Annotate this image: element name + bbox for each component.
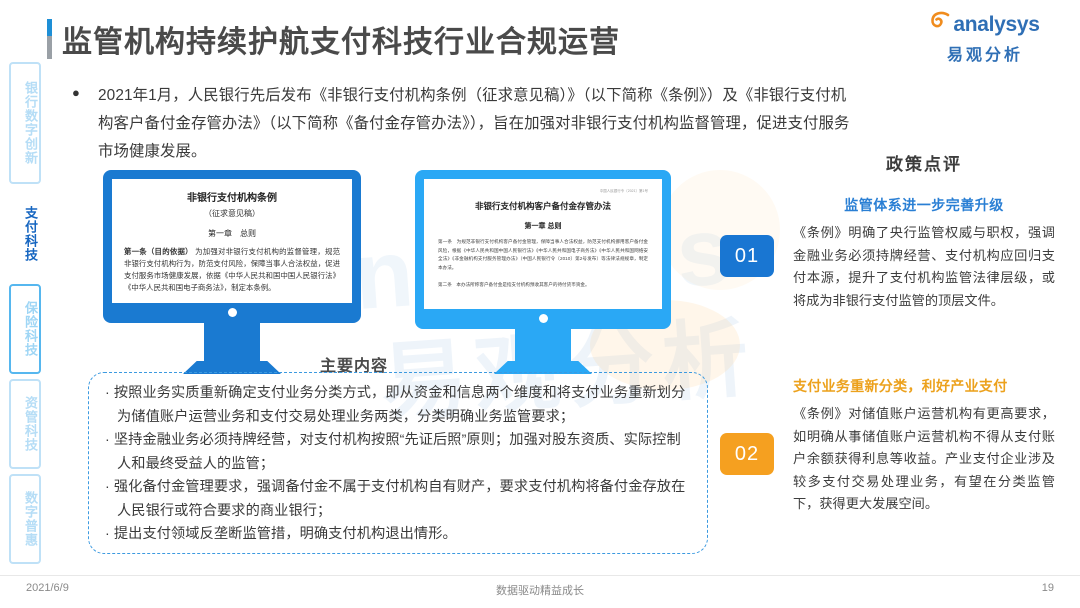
monitor-left-screen: 非银行支付机构条例 （征求意见稿） 第一章 总则 第一条（目的依据） 为加强对非…	[112, 179, 352, 303]
monitor-right-power-dot	[539, 314, 548, 323]
content-bullet-2: · 坚持金融业务必须持牌经营，对支付机构按照“先证后照”原则；加强对股东资质、实…	[105, 429, 693, 476]
doc-chapter: 第一章 总则	[438, 221, 648, 231]
monitor-right: 中国人民银行令〔2021〕第1号 非银行支付机构客户备付金存管办法 第一章 总则…	[415, 170, 671, 374]
monitor-left: 非银行支付机构条例 （征求意见稿） 第一章 总则 第一条（目的依据） 为加强对非…	[103, 170, 361, 374]
analysys-swoosh-icon	[930, 10, 952, 39]
content-bullet-1: · 按照业务实质重新确定支付业务分类方式，即从资金和信息两个维度和将支付业务重新…	[105, 382, 693, 429]
commentary-heading-1: 监管体系进一步完善升级	[793, 195, 1055, 215]
badge-01: 01	[720, 235, 774, 277]
monitor-right-frame: 中国人民银行令〔2021〕第1号 非银行支付机构客户备付金存管办法 第一章 总则…	[415, 170, 671, 329]
title-accent-bar	[47, 19, 52, 59]
document-preview-custody: 中国人民银行令〔2021〕第1号 非银行支付机构客户备付金存管办法 第一章 总则…	[424, 179, 662, 296]
content-bullet-3: · 强化备付金管理要求，强调备付金不属于支付机构自有财产，要求支付机构将备付金存…	[105, 476, 693, 523]
sidebar-item-label: 资管科技	[23, 396, 38, 452]
sidebar-item-label: 保险科技	[23, 301, 38, 357]
intro-line-1: 2021年1月，人民银行先后发布《非银行支付机构条例（征求意见稿）》（以下简称《…	[98, 82, 1052, 110]
sidebar-item-bank-digital[interactable]: 银行数字创新	[9, 62, 41, 184]
sidebar-item-label: 数字普惠	[23, 491, 38, 547]
sidebar-item-asset-tech[interactable]: 资管科技	[9, 379, 41, 469]
sidebar-item-label: 银行数字创新	[23, 81, 38, 165]
logo-wordmark-cn: 易观分析	[920, 41, 1050, 65]
sidebar-item-label: 支付科技	[23, 206, 38, 262]
doc-body: 第一条 为规范非银行支付机构客户备付金管理，保障当事人合法权益，防范支付机构挪用…	[438, 238, 648, 272]
doc-body-lead: 第一条（目的依据）	[124, 247, 193, 256]
doc-title: 非银行支付机构客户备付金存管办法	[438, 200, 648, 212]
monitor-left-neck	[204, 323, 260, 361]
commentary-heading-2: 支付业务重新分类，利好产业支付	[793, 376, 1055, 396]
document-preview-regulation: 非银行支付机构条例 （征求意见稿） 第一章 总则 第一条（目的依据） 为加强对非…	[112, 179, 352, 300]
footer-divider	[0, 575, 1080, 576]
footer-page-number: 19	[1042, 582, 1054, 594]
intro-line-2: 构客户备付金存管办法》（以下简称《备付金存管办法》），旨在加强对非银行支付机构监…	[98, 110, 1052, 138]
commentary-body-1: 《条例》明确了央行监管权威与职权，强调金融业务必须持牌经营、支付机构应回归支付本…	[793, 222, 1055, 312]
page-title: 监管机构持续护航支付科技行业合规运营	[62, 17, 620, 61]
doc-title: 非银行支付机构条例	[124, 189, 340, 204]
doc-subtitle: （征求意见稿）	[124, 208, 340, 219]
slide-canvas: analysys 易观分析 监管机构持续护航支付科技行业合规运营 analysy…	[0, 0, 1080, 608]
doc-chapter: 第一章 总则	[124, 228, 340, 239]
logo-wordmark: analysys	[953, 14, 1039, 35]
commentary-title: 政策点评	[793, 150, 1055, 175]
sidebar-item-insurance-tech[interactable]: 保险科技	[9, 284, 41, 374]
commentary-section: 政策点评 监管体系进一步完善升级 《条例》明确了央行监管权威与职权，强调金融业务…	[793, 150, 1055, 312]
sidebar-item-digital-inclusive[interactable]: 数字普惠	[9, 474, 41, 564]
sidebar-nav: 银行数字创新 支付科技 保险科技 资管科技 数字普惠	[7, 62, 43, 569]
doc-body: 第一条（目的依据） 为加强对非银行支付机构的监督管理，规范非银行支付机构行为，防…	[124, 246, 340, 294]
sidebar-item-payment-tech[interactable]: 支付科技	[9, 189, 41, 279]
doc-body-2: 第二条 本办法所称客户备付金是指支付机构预收其客户的待付货币资金。	[438, 281, 648, 290]
monitor-right-neck	[515, 329, 571, 361]
main-content-box: · 按照业务实质重新确定支付业务分类方式，即从资金和信息两个维度和将支付业务重新…	[88, 372, 708, 554]
commentary-section-2: 支付业务重新分类，利好产业支付 《条例》对储值账户运营机构有更高要求，如明确从事…	[793, 376, 1055, 516]
footer-slogan: 数据驱动精益成长	[0, 582, 1080, 598]
brand-logo: analysys 易观分析	[920, 10, 1050, 66]
doc-header: 中国人民银行令〔2021〕第1号	[438, 189, 648, 194]
content-bullet-4: · 提出支付领域反垄断监管措，明确支付机构退出情形。	[105, 523, 693, 547]
monitor-right-screen: 中国人民银行令〔2021〕第1号 非银行支付机构客户备付金存管办法 第一章 总则…	[424, 179, 662, 309]
badge-02: 02	[720, 433, 774, 475]
monitor-left-power-dot	[228, 308, 237, 317]
bullet-icon: ●	[72, 82, 98, 166]
commentary-body-2: 《条例》对储值账户运营机构有更高要求，如明确从事储值账户运营机构不得从支付账户余…	[793, 403, 1055, 516]
monitor-left-frame: 非银行支付机构条例 （征求意见稿） 第一章 总则 第一条（目的依据） 为加强对非…	[103, 170, 361, 323]
